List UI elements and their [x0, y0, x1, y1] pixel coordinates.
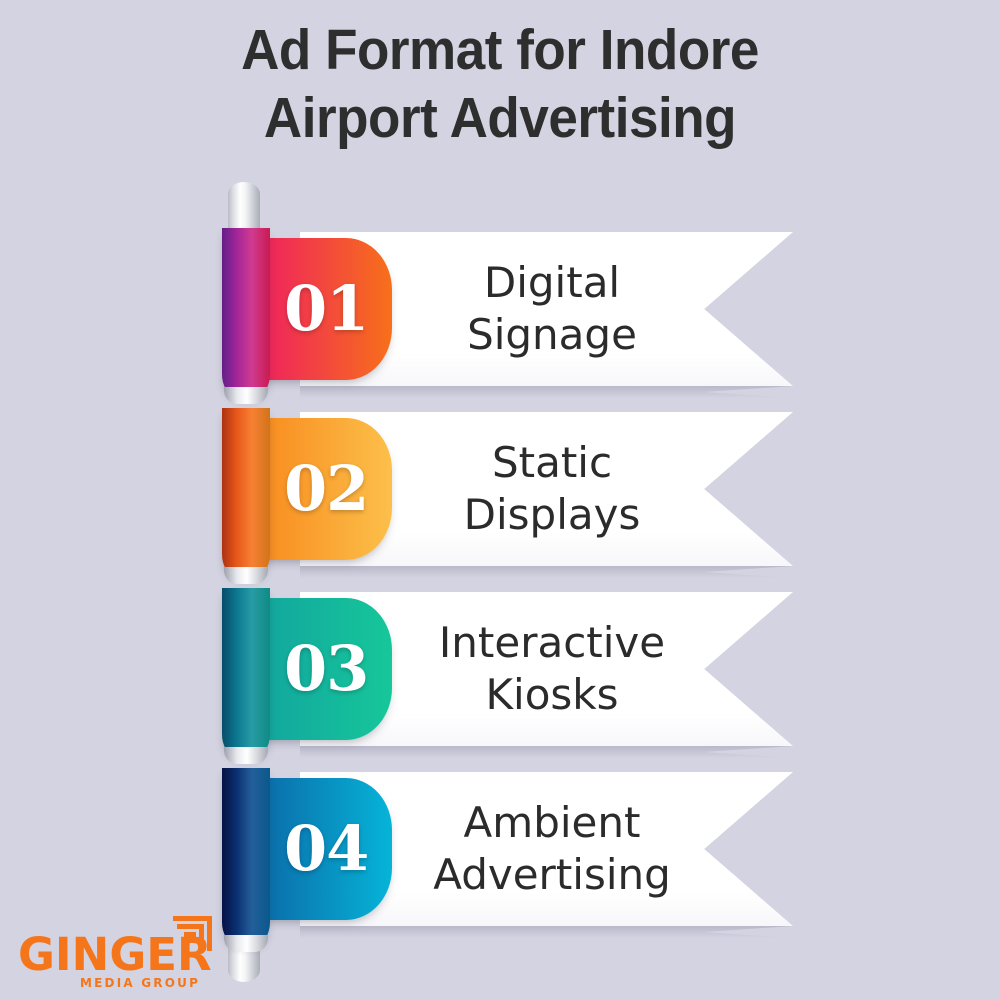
- pole-highlight: [224, 935, 268, 952]
- ginger-media-group-logo: GINGER MEDIA GROUP: [18, 916, 228, 988]
- banner-label-line-2: Advertising: [392, 849, 712, 901]
- banner-label: AmbientAdvertising: [392, 797, 712, 901]
- ribbon-row[interactable]: AmbientAdvertising04: [0, 0, 1000, 1000]
- logo-tagline: MEDIA GROUP: [80, 976, 200, 990]
- banner-label-line-1: Ambient: [464, 798, 641, 847]
- banner-shadow: [300, 926, 793, 938]
- ribbon-wrap: [222, 768, 270, 944]
- nested-squares-icon: [166, 916, 212, 958]
- number-tab-04[interactable]: 04: [258, 778, 392, 920]
- ribbon-list-infographic: DigitalSignage01StaticDisplays02Interact…: [0, 0, 1000, 1000]
- step-number: 04: [284, 818, 368, 880]
